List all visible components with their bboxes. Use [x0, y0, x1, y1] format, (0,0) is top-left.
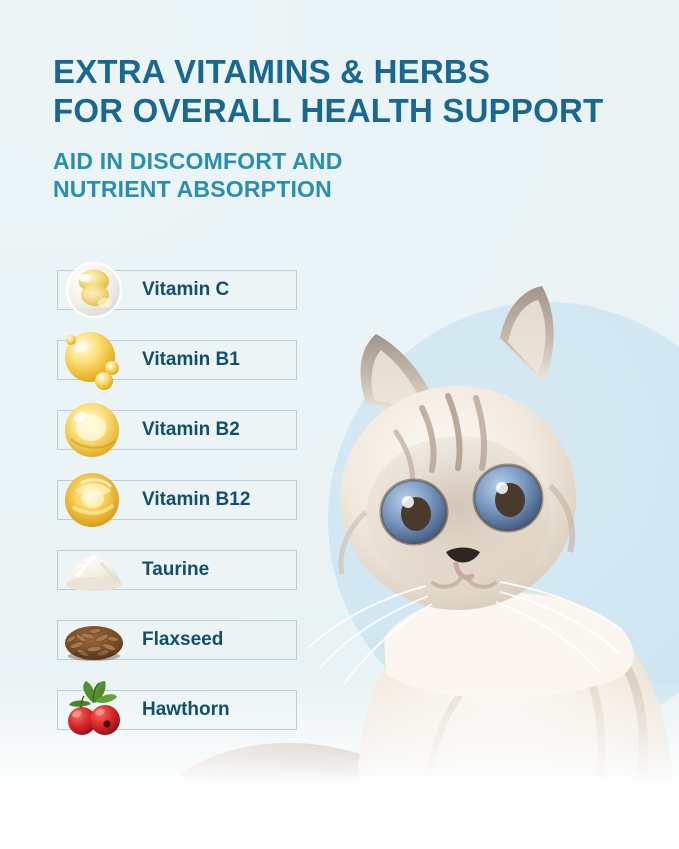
ingredient-row-vitamin-c: Vitamin C [57, 270, 297, 310]
ingredient-label: Flaxseed [142, 629, 223, 651]
ingredient-list: Vitamin C Vitamin B1 [57, 270, 297, 730]
vitamin-b2-golden-sphere-icon [57, 399, 131, 461]
ingredient-label: Vitamin B2 [142, 419, 240, 441]
ingredient-label: Vitamin B12 [142, 489, 250, 511]
vitamin-b12-amber-capsule-icon [57, 469, 131, 531]
vitamin-c-bubble-icon [57, 259, 131, 321]
flaxseed-pile-icon [57, 609, 131, 671]
ingredient-label: Vitamin C [142, 279, 229, 301]
ingredient-label: Hawthorn [142, 699, 230, 721]
page-subtitle: AID IN DISCOMFORT AND NUTRIENT ABSORPTIO… [53, 147, 653, 203]
ingredient-row-vitamin-b2: Vitamin B2 [57, 410, 297, 450]
taurine-white-powder-icon [57, 539, 131, 601]
page-title: EXTRA VITAMINS & HERBS FOR OVERALL HEALT… [53, 52, 653, 130]
hawthorn-berries-icon [57, 679, 131, 741]
ingredient-label: Taurine [142, 559, 209, 581]
vitamin-b1-golden-droplet-icon [57, 329, 131, 391]
ingredient-row-hawthorn: Hawthorn [57, 690, 297, 730]
ingredient-row-vitamin-b1: Vitamin B1 [57, 340, 297, 380]
ingredient-label: Vitamin B1 [142, 349, 240, 371]
ingredient-row-taurine: Taurine [57, 550, 297, 590]
headline-block: EXTRA VITAMINS & HERBS FOR OVERALL HEALT… [53, 52, 653, 203]
ingredient-row-flaxseed: Flaxseed [57, 620, 297, 660]
ingredient-row-vitamin-b12: Vitamin B12 [57, 480, 297, 520]
